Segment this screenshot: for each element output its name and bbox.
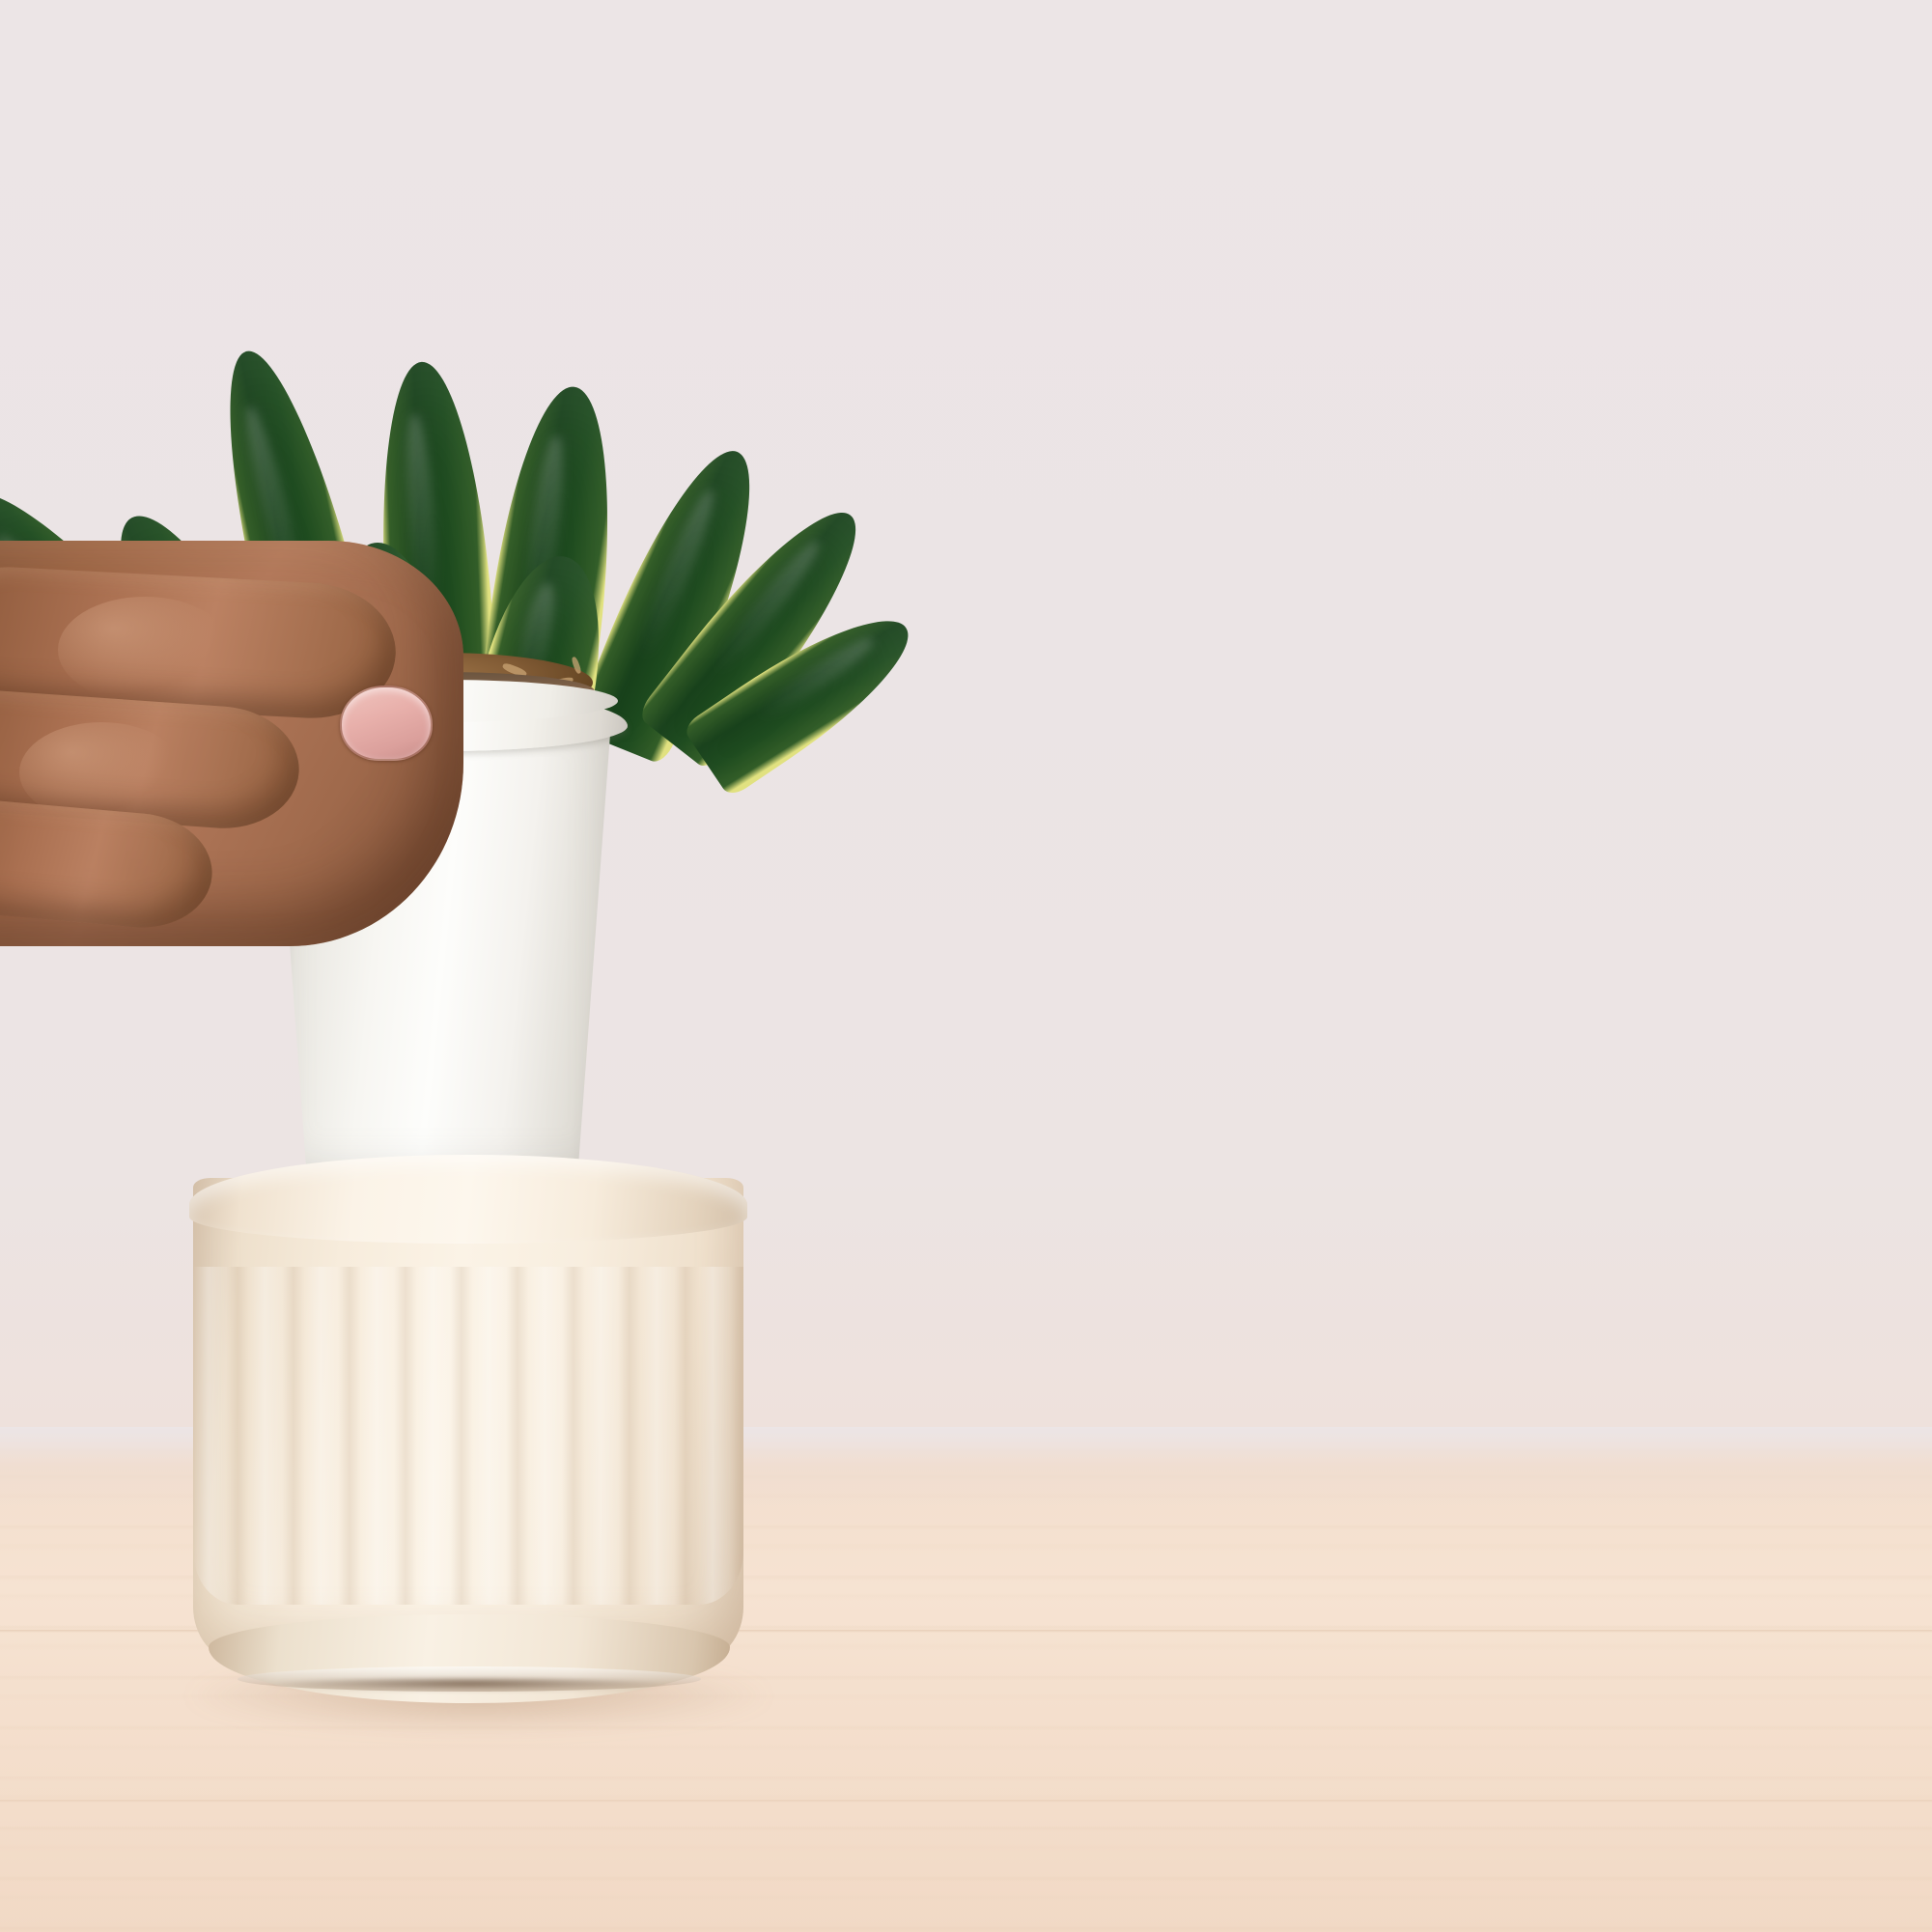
planter-body xyxy=(193,1178,743,1661)
thumbnail xyxy=(340,686,433,761)
planter-fluting xyxy=(193,1267,743,1605)
care-instructions-poster: Care Made Simple! Water once in two week… xyxy=(0,0,1932,1932)
product-photo xyxy=(0,0,966,1932)
planter-rim xyxy=(189,1155,747,1244)
care-info-panel: Care Made Simple! Water once in two week… xyxy=(966,0,1932,1932)
planter-contact-shadow xyxy=(266,1678,672,1692)
